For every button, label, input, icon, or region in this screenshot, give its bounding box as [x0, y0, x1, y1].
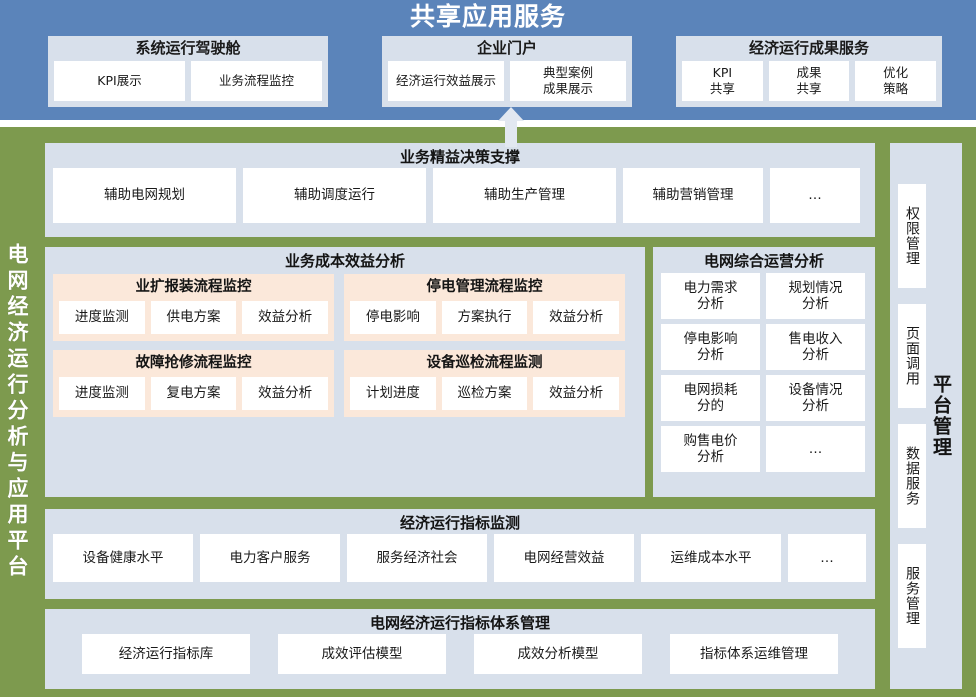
- upward-arrow-icon: [497, 105, 525, 147]
- index-system-items: 经济运行指标库 成效评估模型 成效分析模型 指标体系运维管理: [53, 634, 867, 674]
- subbox-items: 进度监测 复电方案 效益分析: [59, 377, 328, 410]
- panel-comprehensive-operation-analysis: 电网综合运营分析 电力需求分析 规划情况分析 停电影响分析 售电收入分析 电网损…: [653, 247, 875, 497]
- index-item-equipment-health-level[interactable]: 设备健康水平: [53, 534, 193, 582]
- subbox-item-restoration-plan[interactable]: 复电方案: [151, 377, 237, 410]
- panel-title: 业务成本效益分析: [53, 250, 637, 272]
- subbox-item-progress-monitor[interactable]: 进度监测: [59, 301, 145, 334]
- decision-support-items: 辅助电网规划 辅助调度运行 辅助生产管理 辅助营销管理 …: [53, 168, 867, 223]
- header-groups: 系统运行驾驶舱 KPI展示 业务流程监控 企业门户 经济运行效益展示 典型案例成…: [0, 36, 976, 112]
- panel-title: 业务精益决策支撑: [53, 146, 867, 168]
- ops-item-purchase-sale-price-analysis[interactable]: 购售电价分析: [661, 426, 760, 472]
- index-item-more[interactable]: …: [788, 534, 866, 582]
- header-item-results-share[interactable]: 成果共享: [769, 61, 850, 101]
- subbox-title: 故障抢修流程监控: [59, 353, 328, 374]
- platform-item-service-management[interactable]: 服务管理: [898, 544, 926, 648]
- platform-vertical-title: 电网经济运行分析与应用平台: [0, 127, 34, 697]
- decision-item-more[interactable]: …: [770, 168, 860, 223]
- platform-item-data-service[interactable]: 数据服务: [898, 424, 926, 528]
- subbox-title: 停电管理流程监控: [350, 277, 619, 298]
- subbox-item-benefit-analysis[interactable]: 效益分析: [533, 301, 619, 334]
- subbox-item-benefit-analysis[interactable]: 效益分析: [242, 377, 328, 410]
- panel-title: 电网综合运营分析: [661, 250, 867, 272]
- architecture-diagram: 共享应用服务 系统运行驾驶舱 KPI展示 业务流程监控 企业门户 经济运行效益展…: [0, 0, 976, 697]
- decision-item-dispatch-operation[interactable]: 辅助调度运行: [243, 168, 426, 223]
- ops-item-grid-loss-analysis[interactable]: 电网损耗分的: [661, 375, 760, 421]
- ops-analysis-items: 电力需求分析 规划情况分析 停电影响分析 售电收入分析 电网损耗分的 设备情况分…: [661, 273, 867, 472]
- header-group-economic-results-service[interactable]: 经济运行成果服务 KPI共享 成果共享 优化策略: [676, 36, 942, 107]
- ops-item-outage-impact-analysis[interactable]: 停电影响分析: [661, 324, 760, 370]
- header-group-title: 企业门户: [388, 38, 626, 58]
- panel-title: 经济运行指标监测: [53, 512, 867, 534]
- subbox-item-outage-impact[interactable]: 停电影响: [350, 301, 436, 334]
- panel-cost-benefit-analysis: 业务成本效益分析 业扩报装流程监控 进度监测 供电方案 效益分析 停电管理流程监…: [45, 247, 645, 497]
- subbox-item-power-supply-plan[interactable]: 供电方案: [151, 301, 237, 334]
- subbox-items: 停电影响 方案执行 效益分析: [350, 301, 619, 334]
- platform-item-permission-management[interactable]: 权限管理: [898, 184, 926, 288]
- index-item-om-cost-level[interactable]: 运维成本水平: [641, 534, 781, 582]
- header-group-items: 经济运行效益展示 典型案例成果展示: [388, 61, 626, 101]
- ops-item-planning-status-analysis[interactable]: 规划情况分析: [766, 273, 865, 319]
- system-item-effect-evaluation-model[interactable]: 成效评估模型: [278, 634, 446, 674]
- panel-platform-management: 权限管理 页面调用 数据服务 服务管理 平台管理: [890, 143, 962, 689]
- page-title: 共享应用服务: [0, 2, 976, 32]
- subbox-item-plan-progress[interactable]: 计划进度: [350, 377, 436, 410]
- header-group-enterprise-portal[interactable]: 企业门户 经济运行效益展示 典型案例成果展示: [382, 36, 632, 107]
- system-item-index-system-om-management[interactable]: 指标体系运维管理: [670, 634, 838, 674]
- platform-management-items: 权限管理 页面调用 数据服务 服务管理: [898, 184, 926, 648]
- header-group-items: KPI共享 成果共享 优化策略: [682, 61, 936, 101]
- subbox-item-benefit-analysis[interactable]: 效益分析: [242, 301, 328, 334]
- header-item-kpi-display[interactable]: KPI展示: [54, 61, 185, 101]
- header-item-optimization-strategy[interactable]: 优化策略: [855, 61, 936, 101]
- system-item-economic-index-library[interactable]: 经济运行指标库: [82, 634, 250, 674]
- platform-vertical-title-text: 电网经济运行分析与应用平台: [2, 243, 32, 581]
- header-group-title: 系统运行驾驶舱: [54, 38, 322, 58]
- subbox-equipment-inspection-monitor[interactable]: 设备巡检流程监测 计划进度 巡检方案 效益分析: [344, 350, 625, 417]
- header-group-items: KPI展示 业务流程监控: [54, 61, 322, 101]
- panel-decision-support: 业务精益决策支撑 辅助电网规划 辅助调度运行 辅助生产管理 辅助营销管理 …: [45, 143, 875, 237]
- subbox-item-benefit-analysis[interactable]: 效益分析: [533, 377, 619, 410]
- header-item-economic-benefit-display[interactable]: 经济运行效益展示: [388, 61, 504, 101]
- subbox-item-progress-monitor[interactable]: 进度监测: [59, 377, 145, 410]
- subbox-title: 设备巡检流程监测: [350, 353, 619, 374]
- header-item-kpi-share[interactable]: KPI共享: [682, 61, 763, 101]
- ops-item-equipment-status-analysis[interactable]: 设备情况分析: [766, 375, 865, 421]
- header-item-typical-case-results[interactable]: 典型案例成果展示: [510, 61, 626, 101]
- subbox-outage-management-monitor[interactable]: 停电管理流程监控 停电影响 方案执行 效益分析: [344, 274, 625, 341]
- subbox-item-plan-execution[interactable]: 方案执行: [442, 301, 528, 334]
- header-group-system-cockpit[interactable]: 系统运行驾驶舱 KPI展示 业务流程监控: [48, 36, 328, 107]
- index-item-serving-economy-society[interactable]: 服务经济社会: [347, 534, 487, 582]
- platform-item-page-invocation[interactable]: 页面调用: [898, 304, 926, 408]
- decision-item-grid-planning[interactable]: 辅助电网规划: [53, 168, 236, 223]
- index-item-grid-operating-benefit[interactable]: 电网经营效益: [494, 534, 634, 582]
- subbox-expansion-process-monitor[interactable]: 业扩报装流程监控 进度监测 供电方案 效益分析: [53, 274, 334, 341]
- panel-index-system-management: 电网经济运行指标体系管理 经济运行指标库 成效评估模型 成效分析模型 指标体系运…: [45, 609, 875, 689]
- index-monitor-items: 设备健康水平 电力客户服务 服务经济社会 电网经营效益 运维成本水平 …: [53, 534, 867, 582]
- system-item-effect-analysis-model[interactable]: 成效分析模型: [474, 634, 642, 674]
- band-divider: [0, 120, 976, 127]
- header-group-title: 经济运行成果服务: [682, 38, 936, 58]
- subbox-items: 计划进度 巡检方案 效益分析: [350, 377, 619, 410]
- subbox-item-inspection-plan[interactable]: 巡检方案: [442, 377, 528, 410]
- subbox-items: 进度监测 供电方案 效益分析: [59, 301, 328, 334]
- decision-item-production-management[interactable]: 辅助生产管理: [433, 168, 616, 223]
- platform-management-title: 平台管理: [928, 374, 955, 458]
- header-item-business-process-monitor[interactable]: 业务流程监控: [191, 61, 322, 101]
- decision-item-marketing-management[interactable]: 辅助营销管理: [623, 168, 763, 223]
- ops-item-electricity-sales-revenue-analysis[interactable]: 售电收入分析: [766, 324, 865, 370]
- panel-title: 电网经济运行指标体系管理: [53, 612, 867, 634]
- panel-economic-index-monitoring: 经济运行指标监测 设备健康水平 电力客户服务 服务经济社会 电网经营效益 运维成…: [45, 509, 875, 599]
- ops-item-power-demand-analysis[interactable]: 电力需求分析: [661, 273, 760, 319]
- index-item-power-customer-service[interactable]: 电力客户服务: [200, 534, 340, 582]
- subbox-title: 业扩报装流程监控: [59, 277, 328, 298]
- subbox-fault-repair-monitor[interactable]: 故障抢修流程监控 进度监测 复电方案 效益分析: [53, 350, 334, 417]
- ops-item-more[interactable]: …: [766, 426, 865, 472]
- cost-benefit-subboxes: 业扩报装流程监控 进度监测 供电方案 效益分析 停电管理流程监控 停电影响 方案…: [53, 274, 637, 417]
